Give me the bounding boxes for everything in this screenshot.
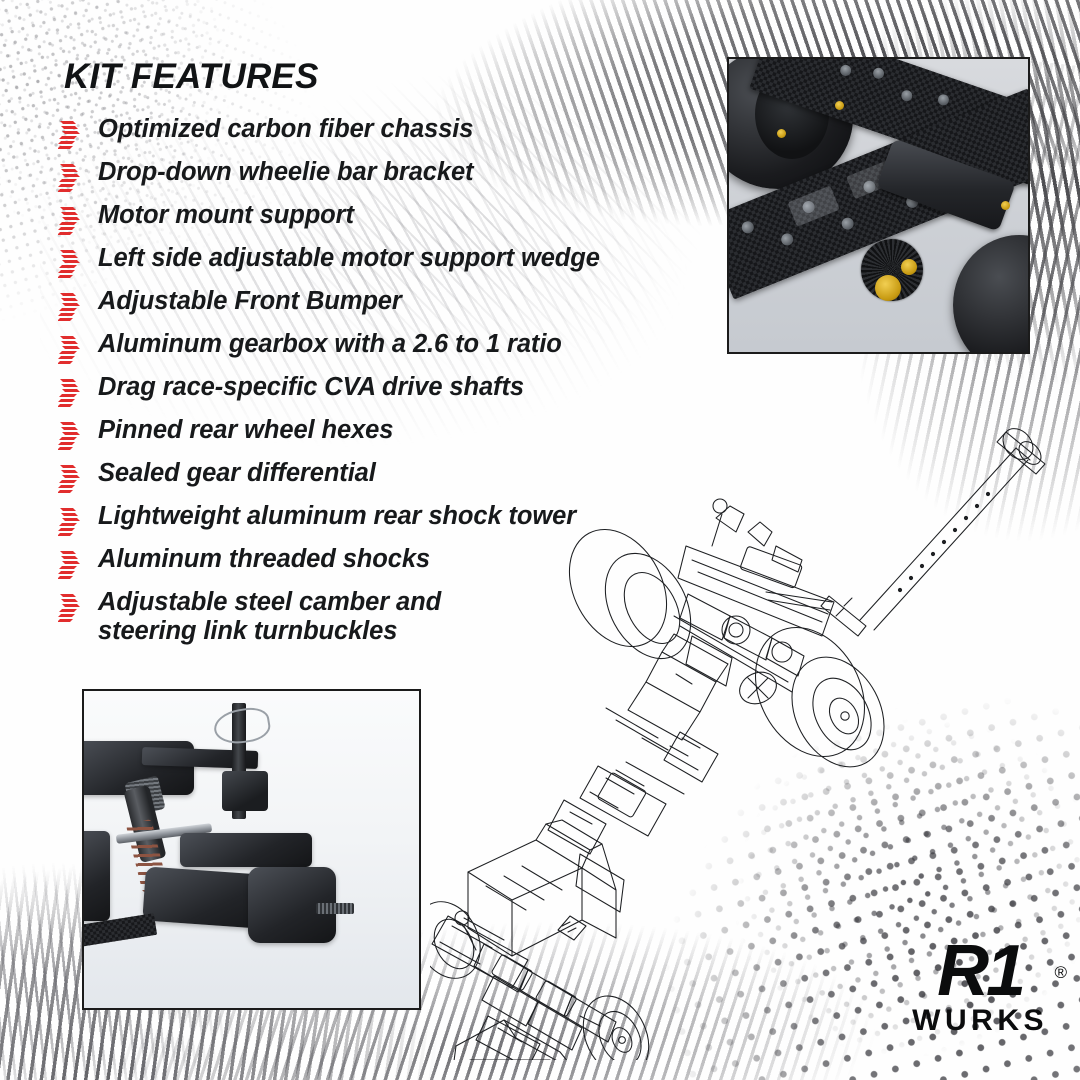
- red-double-chevron-icon: [58, 592, 98, 626]
- carbon-fiber-chassis-photo: [727, 57, 1030, 354]
- feature-label: Aluminum gearbox with a 2.6 to 1 ratio: [98, 329, 562, 359]
- feature-list-item: Pinned rear wheel hexes: [58, 415, 698, 457]
- feature-list-item: Aluminum threaded shocks: [58, 544, 698, 586]
- feature-list-item: Adjustable Front Bumper: [58, 286, 698, 328]
- front-suspension-photo: [82, 689, 421, 1010]
- feature-label: Pinned rear wheel hexes: [98, 415, 393, 445]
- red-double-chevron-icon: [58, 291, 98, 325]
- feature-list-item: Left side adjustable motor support wedge: [58, 243, 698, 285]
- feature-label: Aluminum threaded shocks: [98, 544, 430, 574]
- gold-pinion-gear: [875, 275, 901, 301]
- wheelie-bar-assembly: [766, 423, 1045, 636]
- feature-label: Left side adjustable motor support wedge: [98, 243, 600, 273]
- red-double-chevron-icon: [58, 506, 98, 540]
- feature-list-item: Drag race-specific CVA drive shafts: [58, 372, 698, 414]
- post-mount-block: [222, 771, 268, 811]
- feature-label: Adjustable steel camber and steering lin…: [98, 587, 441, 646]
- logo-r1-text: R1 ®: [912, 940, 1048, 1002]
- front-suspension-assembly: [430, 891, 661, 1060]
- red-double-chevron-icon: [58, 377, 98, 411]
- feature-list-item: Aluminum gearbox with a 2.6 to 1 ratio: [58, 329, 698, 371]
- gold-screw-top: [835, 101, 844, 110]
- logo-brand: R1: [937, 931, 1023, 1011]
- threaded-axle: [316, 903, 354, 914]
- center-chassis-links: [548, 732, 718, 854]
- feature-list-item: Adjustable steel camber and steering lin…: [58, 587, 698, 646]
- red-double-chevron-icon: [58, 248, 98, 282]
- steering-rack: [180, 833, 312, 867]
- feature-label: Adjustable Front Bumper: [98, 286, 402, 316]
- red-double-chevron-icon: [58, 334, 98, 368]
- feature-label: Lightweight aluminum rear shock tower: [98, 501, 576, 531]
- red-double-chevron-icon: [58, 420, 98, 454]
- feature-list-item: Optimized carbon fiber chassis: [58, 114, 698, 156]
- body-and-motor-cover: [468, 820, 624, 956]
- r1-wurks-logo: R1 ® WURKS: [912, 940, 1048, 1038]
- chassis-side-rail: [84, 831, 110, 921]
- feature-label: Motor mount support: [98, 200, 354, 230]
- kit-features-page: KIT FEATURES Optimized carbon fiber chas…: [0, 0, 1080, 1080]
- red-double-chevron-icon: [58, 549, 98, 583]
- gold-screw-left: [777, 129, 786, 138]
- page-title: KIT FEATURES: [64, 57, 319, 97]
- feature-list-item: Lightweight aluminum rear shock tower: [58, 501, 698, 543]
- red-double-chevron-icon: [58, 463, 98, 497]
- registered-trademark-icon: ®: [1054, 942, 1067, 1004]
- gold-screw-right: [1001, 201, 1010, 210]
- feature-list-item: Drop-down wheelie bar bracket: [58, 157, 698, 199]
- feature-label: Optimized carbon fiber chassis: [98, 114, 473, 144]
- feature-label: Drop-down wheelie bar bracket: [98, 157, 473, 187]
- red-double-chevron-icon: [58, 205, 98, 239]
- feature-label: Sealed gear differential: [98, 458, 376, 488]
- kit-features-list: Optimized carbon fiber chassisDrop-down …: [58, 114, 698, 647]
- red-double-chevron-icon: [58, 162, 98, 196]
- gold-nut: [901, 259, 917, 275]
- feature-list-item: Motor mount support: [58, 200, 698, 242]
- feature-list-item: Sealed gear differential: [58, 458, 698, 500]
- red-double-chevron-icon: [58, 119, 98, 153]
- feature-label: Drag race-specific CVA drive shafts: [98, 372, 524, 402]
